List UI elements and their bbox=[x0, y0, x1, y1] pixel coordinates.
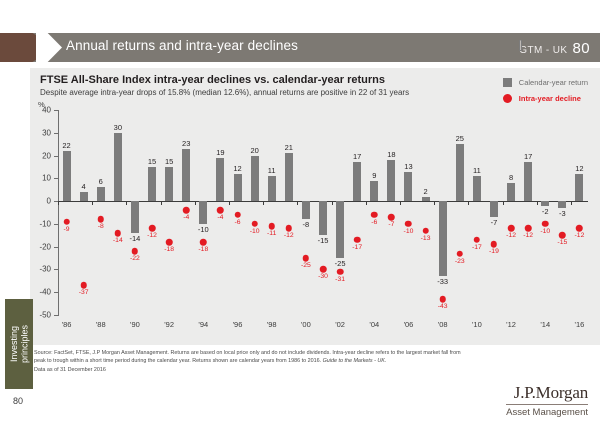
chart-decline-value-label: -11 bbox=[267, 230, 276, 237]
sidebar-tab-investing-principles[interactable]: Investingprinciples bbox=[5, 299, 33, 389]
chart-bar-value-label: 30 bbox=[114, 123, 122, 132]
chart-bar bbox=[268, 176, 276, 201]
x-axis-tick-label: '16 bbox=[575, 320, 585, 329]
chart-bar bbox=[302, 201, 310, 219]
chart-decline-value-label: -37 bbox=[79, 289, 89, 296]
x-axis-tick bbox=[400, 201, 401, 205]
chart-bar-value-label: 2 bbox=[423, 187, 427, 196]
chart-decline-dot bbox=[217, 207, 224, 214]
chart-decline-value-label: -8 bbox=[98, 223, 104, 230]
chart-bar-value-label: 22 bbox=[62, 141, 70, 150]
y-axis-tick-label: 40 bbox=[42, 106, 51, 115]
y-axis-tick bbox=[54, 178, 59, 179]
x-axis-tick-label: '96 bbox=[233, 320, 243, 329]
chart-legend: Calendar-year return Intra-year decline bbox=[503, 78, 588, 110]
chart-bar bbox=[353, 162, 361, 201]
chart-decline-dot bbox=[200, 239, 207, 246]
chart-bar bbox=[63, 151, 71, 201]
chart-decline-value-label: -18 bbox=[198, 246, 208, 253]
chart-bar bbox=[182, 149, 190, 201]
x-axis-tick bbox=[503, 201, 504, 205]
chart-decline-dot bbox=[525, 225, 532, 232]
chart-decline-dot bbox=[80, 282, 87, 289]
header-separator: | bbox=[519, 40, 522, 51]
x-axis-tick-label: '04 bbox=[369, 320, 379, 329]
y-axis-tick bbox=[54, 247, 59, 248]
chart-decline-value-label: -25 bbox=[301, 262, 311, 269]
chart-decline-dot bbox=[251, 221, 258, 228]
chart-plot-area: 403020100-10-20-30-40-5022'86-94-376'88-… bbox=[58, 110, 588, 315]
x-axis-tick-label: '14 bbox=[540, 320, 550, 329]
chart-bar bbox=[199, 201, 207, 224]
chart-bar-value-label: -25 bbox=[335, 259, 346, 268]
x-axis-tick-label: '08 bbox=[438, 320, 448, 329]
chart-bar bbox=[387, 160, 395, 201]
chart-decline-value-label: -19 bbox=[489, 248, 499, 255]
chart-decline-dot bbox=[268, 223, 275, 230]
chart-bar bbox=[234, 174, 242, 201]
chart-decline-dot bbox=[388, 214, 395, 221]
y-axis-tick bbox=[54, 292, 59, 293]
chart-decline-dot bbox=[303, 255, 310, 262]
chart-bar bbox=[97, 187, 105, 201]
chart-decline-dot bbox=[508, 225, 515, 232]
chart-bar bbox=[336, 201, 344, 258]
chart-bar-value-label: -15 bbox=[318, 236, 329, 245]
x-axis-tick-label: '12 bbox=[506, 320, 516, 329]
chart-bar-value-label: 17 bbox=[353, 152, 361, 161]
chart-bar-value-label: 8 bbox=[509, 173, 513, 182]
chart-decline-value-label: -23 bbox=[455, 258, 465, 265]
chart-bar bbox=[148, 167, 156, 201]
x-axis-tick bbox=[126, 201, 127, 205]
legend-item-intra-year-decline: Intra-year decline bbox=[503, 94, 588, 103]
chart-bar bbox=[558, 201, 566, 208]
chart-title: FTSE All-Share Index intra-year declines… bbox=[40, 74, 385, 86]
chart-bar bbox=[422, 197, 430, 202]
legend-dot-swatch-icon bbox=[503, 94, 512, 103]
guide-label: GTM - UK bbox=[519, 45, 567, 56]
chart-bar-value-label: 21 bbox=[285, 143, 293, 152]
chart-decline-dot bbox=[405, 221, 412, 228]
footnote-text: Source: FactSet, FTSE, J.P Morgan Asset … bbox=[34, 350, 461, 364]
chart-bar bbox=[404, 172, 412, 202]
y-axis-tick bbox=[54, 133, 59, 134]
x-axis-tick-label: '86 bbox=[62, 320, 72, 329]
chart-decline-dot bbox=[97, 216, 104, 223]
y-axis-tick-label: 20 bbox=[42, 151, 51, 160]
legend-dot-label: Intra-year decline bbox=[519, 94, 581, 103]
x-axis-tick-label: '92 bbox=[164, 320, 174, 329]
chart-bar bbox=[216, 158, 224, 201]
chart-bar-value-label: 13 bbox=[404, 162, 412, 171]
x-axis-tick bbox=[92, 201, 93, 205]
chart-decline-value-label: -10 bbox=[404, 228, 414, 235]
chart-bar bbox=[507, 183, 515, 201]
x-axis-tick-label: '90 bbox=[130, 320, 140, 329]
x-axis-tick bbox=[58, 201, 59, 205]
source-footnote: Source: FactSet, FTSE, J.P Morgan Asset … bbox=[34, 349, 464, 374]
y-axis-tick bbox=[54, 110, 59, 111]
x-axis-tick bbox=[537, 201, 538, 205]
y-axis-tick-label: 30 bbox=[42, 128, 51, 137]
chart-bar-value-label: -14 bbox=[130, 234, 141, 243]
chart-decline-dot bbox=[149, 225, 156, 232]
x-axis-tick bbox=[468, 201, 469, 205]
chart-decline-value-label: -7 bbox=[388, 221, 394, 228]
y-axis-tick bbox=[54, 224, 59, 225]
chart-decline-value-label: -17 bbox=[352, 244, 362, 251]
chart-bar-value-label: -7 bbox=[491, 218, 498, 227]
chart-bar bbox=[541, 201, 549, 206]
y-axis-tick-label: -20 bbox=[39, 242, 51, 251]
y-axis-tick bbox=[54, 156, 59, 157]
y-axis-tick-label: -30 bbox=[39, 265, 51, 274]
chart-decline-dot bbox=[234, 212, 241, 219]
x-axis-tick bbox=[229, 201, 230, 205]
chart-bar-value-label: 15 bbox=[165, 157, 173, 166]
chart-bar-value-label: -2 bbox=[542, 207, 549, 216]
page-number-footer: 80 bbox=[13, 396, 23, 406]
chart-decline-value-label: -6 bbox=[371, 219, 377, 226]
chart-bar-value-label: -8 bbox=[303, 220, 310, 229]
chart-bar-value-label: 12 bbox=[233, 164, 241, 173]
chart-decline-dot bbox=[132, 248, 139, 255]
chart-decline-dot bbox=[286, 225, 293, 232]
chart-bar-value-label: 6 bbox=[99, 177, 103, 186]
chart-decline-dot bbox=[457, 250, 464, 257]
y-axis-tick-label: -50 bbox=[39, 311, 51, 320]
chart-decline-dot bbox=[320, 266, 327, 273]
logo-wordmark: J.P.Morgan bbox=[506, 383, 588, 405]
chart-bar-value-label: 12 bbox=[575, 164, 583, 173]
footnote-italic: Guide to the Markets - UK. bbox=[323, 358, 387, 364]
chart-decline-value-label: -12 bbox=[506, 232, 516, 239]
chart-bar-value-label: 4 bbox=[82, 182, 86, 191]
chart-decline-dot bbox=[491, 241, 498, 248]
x-axis-tick bbox=[161, 201, 162, 205]
chart-decline-dot bbox=[354, 237, 361, 244]
chart-decline-value-label: -22 bbox=[130, 255, 140, 262]
chart-decline-value-label: -12 bbox=[523, 232, 533, 239]
jpmorgan-logo: J.P.Morgan Asset Management bbox=[506, 383, 588, 418]
chart-decline-value-label: -9 bbox=[64, 226, 70, 233]
chart-decline-dot bbox=[183, 207, 190, 214]
y-axis-tick-label: -10 bbox=[39, 219, 51, 228]
x-axis-tick-label: '10 bbox=[472, 320, 482, 329]
chart-decline-value-label: -12 bbox=[575, 232, 585, 239]
chart-decline-value-label: -17 bbox=[472, 244, 482, 251]
x-axis-tick bbox=[195, 201, 196, 205]
chart-decline-dot bbox=[474, 237, 481, 244]
chart-decline-dot bbox=[337, 268, 344, 275]
legend-bar-label: Calendar-year return bbox=[519, 78, 588, 87]
x-axis-tick-label: '02 bbox=[335, 320, 345, 329]
chart-bar-value-label: 15 bbox=[148, 157, 156, 166]
chart-bar-value-label: 11 bbox=[473, 166, 481, 175]
chart-bar bbox=[473, 176, 481, 201]
x-axis-tick bbox=[366, 201, 367, 205]
chart-decline-dot bbox=[542, 221, 549, 228]
x-axis-tick bbox=[297, 201, 298, 205]
y-axis-tick-label: 0 bbox=[47, 197, 51, 206]
chart-decline-value-label: -14 bbox=[113, 237, 123, 244]
x-axis-tick bbox=[332, 201, 333, 205]
chart-decline-value-label: -30 bbox=[318, 273, 328, 280]
chart-decline-dot bbox=[63, 218, 70, 225]
x-axis-tick bbox=[571, 201, 572, 205]
y-axis-tick-label: -40 bbox=[39, 288, 51, 297]
y-axis-tick-label: 10 bbox=[42, 174, 51, 183]
chart-decline-value-label: -10 bbox=[540, 228, 550, 235]
logo-tagline: Asset Management bbox=[506, 407, 588, 418]
sidebar-tab-label: Investingprinciples bbox=[9, 325, 30, 363]
chart-canvas: 403020100-10-20-30-40-5022'86-94-376'88-… bbox=[58, 110, 588, 315]
chart-bar bbox=[131, 201, 139, 233]
chart-bar-value-label: 20 bbox=[250, 146, 258, 155]
chart-bar bbox=[490, 201, 498, 217]
chart-bar-value-label: 9 bbox=[372, 171, 376, 180]
x-axis-tick-label: '00 bbox=[301, 320, 311, 329]
header-meta: GTM - UK | 80 bbox=[519, 40, 590, 57]
chart-decline-dot bbox=[576, 225, 583, 232]
y-axis-tick bbox=[54, 269, 59, 270]
footnote-date: Data as of 31 December 2016 bbox=[34, 367, 106, 373]
chart-bar bbox=[251, 156, 259, 202]
page-title: Annual returns and intra-year declines bbox=[66, 38, 298, 53]
chart-bar bbox=[319, 201, 327, 235]
chart-decline-value-label: -13 bbox=[421, 235, 431, 242]
chart-decline-value-label: -4 bbox=[183, 214, 189, 221]
chart-bar bbox=[165, 167, 173, 201]
chart-bar-value-label: 11 bbox=[268, 166, 276, 175]
chart-bar bbox=[80, 192, 88, 201]
chart-decline-dot bbox=[166, 239, 173, 246]
x-axis-tick-label: '88 bbox=[96, 320, 106, 329]
chart-bar-value-label: 23 bbox=[182, 139, 190, 148]
chart-bar-value-label: -33 bbox=[437, 277, 448, 286]
legend-item-calendar-return: Calendar-year return bbox=[503, 78, 588, 87]
chart-bar bbox=[456, 144, 464, 201]
x-axis-tick-label: '06 bbox=[404, 320, 414, 329]
chart-bar bbox=[370, 181, 378, 202]
x-axis-tick bbox=[263, 201, 264, 205]
chart-decline-value-label: -12 bbox=[284, 232, 294, 239]
chart-bar-value-label: 25 bbox=[456, 134, 464, 143]
chart-bar bbox=[114, 133, 122, 201]
chart-bar-value-label: 19 bbox=[216, 148, 224, 157]
chart-bar bbox=[285, 153, 293, 201]
chart-decline-dot bbox=[115, 230, 122, 237]
chart-decline-dot bbox=[371, 212, 378, 219]
chart-decline-dot bbox=[559, 232, 566, 239]
y-axis-tick bbox=[54, 315, 59, 316]
chart-decline-value-label: -18 bbox=[164, 246, 174, 253]
legend-bar-swatch-icon bbox=[503, 78, 512, 87]
chart-decline-value-label: -43 bbox=[438, 303, 448, 310]
chart-subtitle: Despite average intra-year drops of 15.8… bbox=[40, 88, 409, 97]
chart-bar-value-label: -3 bbox=[559, 209, 566, 218]
chart-decline-value-label: -15 bbox=[557, 239, 567, 246]
chart-bar-value-label: 18 bbox=[387, 150, 395, 159]
chart-decline-value-label: -12 bbox=[147, 232, 157, 239]
chart-bar-value-label: -10 bbox=[198, 225, 209, 234]
chart-decline-value-label: -6 bbox=[234, 219, 240, 226]
chart-decline-value-label: -10 bbox=[250, 228, 260, 235]
x-axis-tick-label: '98 bbox=[267, 320, 277, 329]
x-axis-tick-label: '94 bbox=[198, 320, 208, 329]
chart-bar-value-label: 17 bbox=[524, 152, 532, 161]
chart-decline-dot bbox=[422, 227, 429, 234]
header-page-number: 80 bbox=[573, 40, 591, 57]
y-axis-line bbox=[58, 110, 59, 315]
x-axis-tick bbox=[434, 201, 435, 205]
chart-decline-value-label: -4 bbox=[217, 214, 223, 221]
chart-decline-value-label: -31 bbox=[335, 276, 345, 283]
chart-decline-dot bbox=[439, 296, 446, 303]
chart-bar bbox=[439, 201, 447, 276]
chart-bar bbox=[575, 174, 583, 201]
chart-bar bbox=[524, 162, 532, 201]
